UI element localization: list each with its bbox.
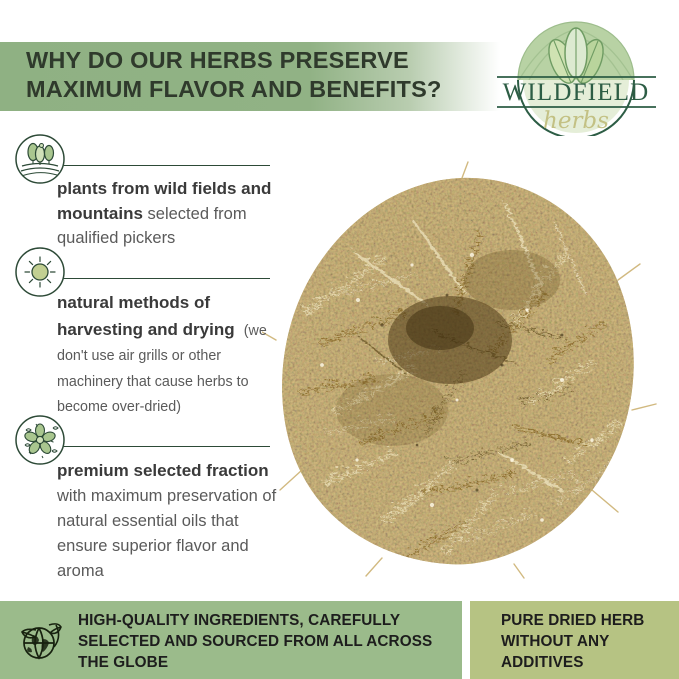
feature-divider — [63, 165, 270, 166]
globe-leaf-icon — [14, 611, 70, 667]
dried-herb-pile-photo — [262, 160, 662, 580]
infographic-page: WHY DO OUR HERBS PRESERVE MAXIMUM FLAVOR… — [0, 0, 679, 679]
banner-high-quality-ingredients: HIGH-QUALITY INGREDIENTS, CAREFULLY SELE… — [0, 601, 462, 679]
banner-right-text: PURE DRIED HERB WITHOUT ANY ADDITIVES — [501, 610, 673, 673]
feature-text: natural methods of harvesting and drying… — [57, 290, 289, 420]
feature-divider — [63, 278, 270, 279]
brand-logo: WILDFIELD herbs — [489, 18, 664, 136]
feature-lead: premium selected fraction — [57, 461, 269, 480]
feature-text: premium selected fraction with maximum p… — [57, 458, 289, 584]
feature-divider — [63, 446, 270, 447]
banner-pure-dried-herb: PURE DRIED HERB WITHOUT ANY ADDITIVES — [470, 601, 679, 679]
feature-text: plants from wild fields and mountains se… — [57, 177, 289, 251]
feature-lead: natural methods of harvesting and drying — [57, 293, 235, 339]
page-title: WHY DO OUR HERBS PRESERVE MAXIMUM FLAVOR… — [26, 46, 466, 104]
banner-left-text: HIGH-QUALITY INGREDIENTS, CAREFULLY SELE… — [78, 610, 454, 673]
feature-rest: with maximum preservation of natural ess… — [57, 487, 276, 580]
logo-script: herbs — [543, 108, 609, 134]
logo-wordmark: WILDFIELD — [503, 79, 650, 106]
